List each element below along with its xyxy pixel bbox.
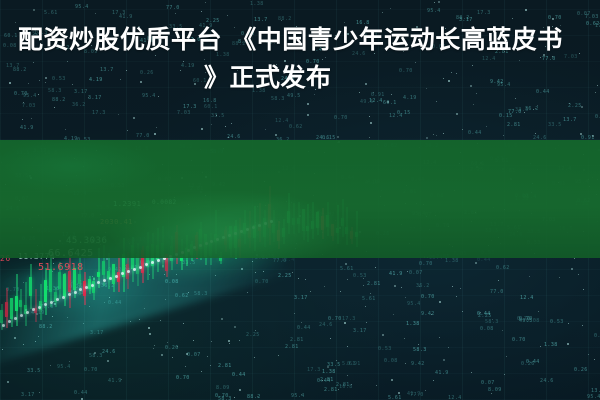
headline-band [0,140,600,258]
headline-line-1: 配资炒股优质平台 《中国青少年运动长高蓝皮书 [18,21,563,59]
headline-line-2: 》正式发布 [204,59,332,97]
band-texture [0,140,600,258]
stock-news-banner: 95.417.32.810.080.442.2517.38.0977.013.7… [0,0,600,400]
headline-text-block: 配资炒股优质平台 《中国青少年运动长高蓝皮书 》正式发布 [0,0,600,118]
chart-value-label: 51.6918 [38,262,84,273]
